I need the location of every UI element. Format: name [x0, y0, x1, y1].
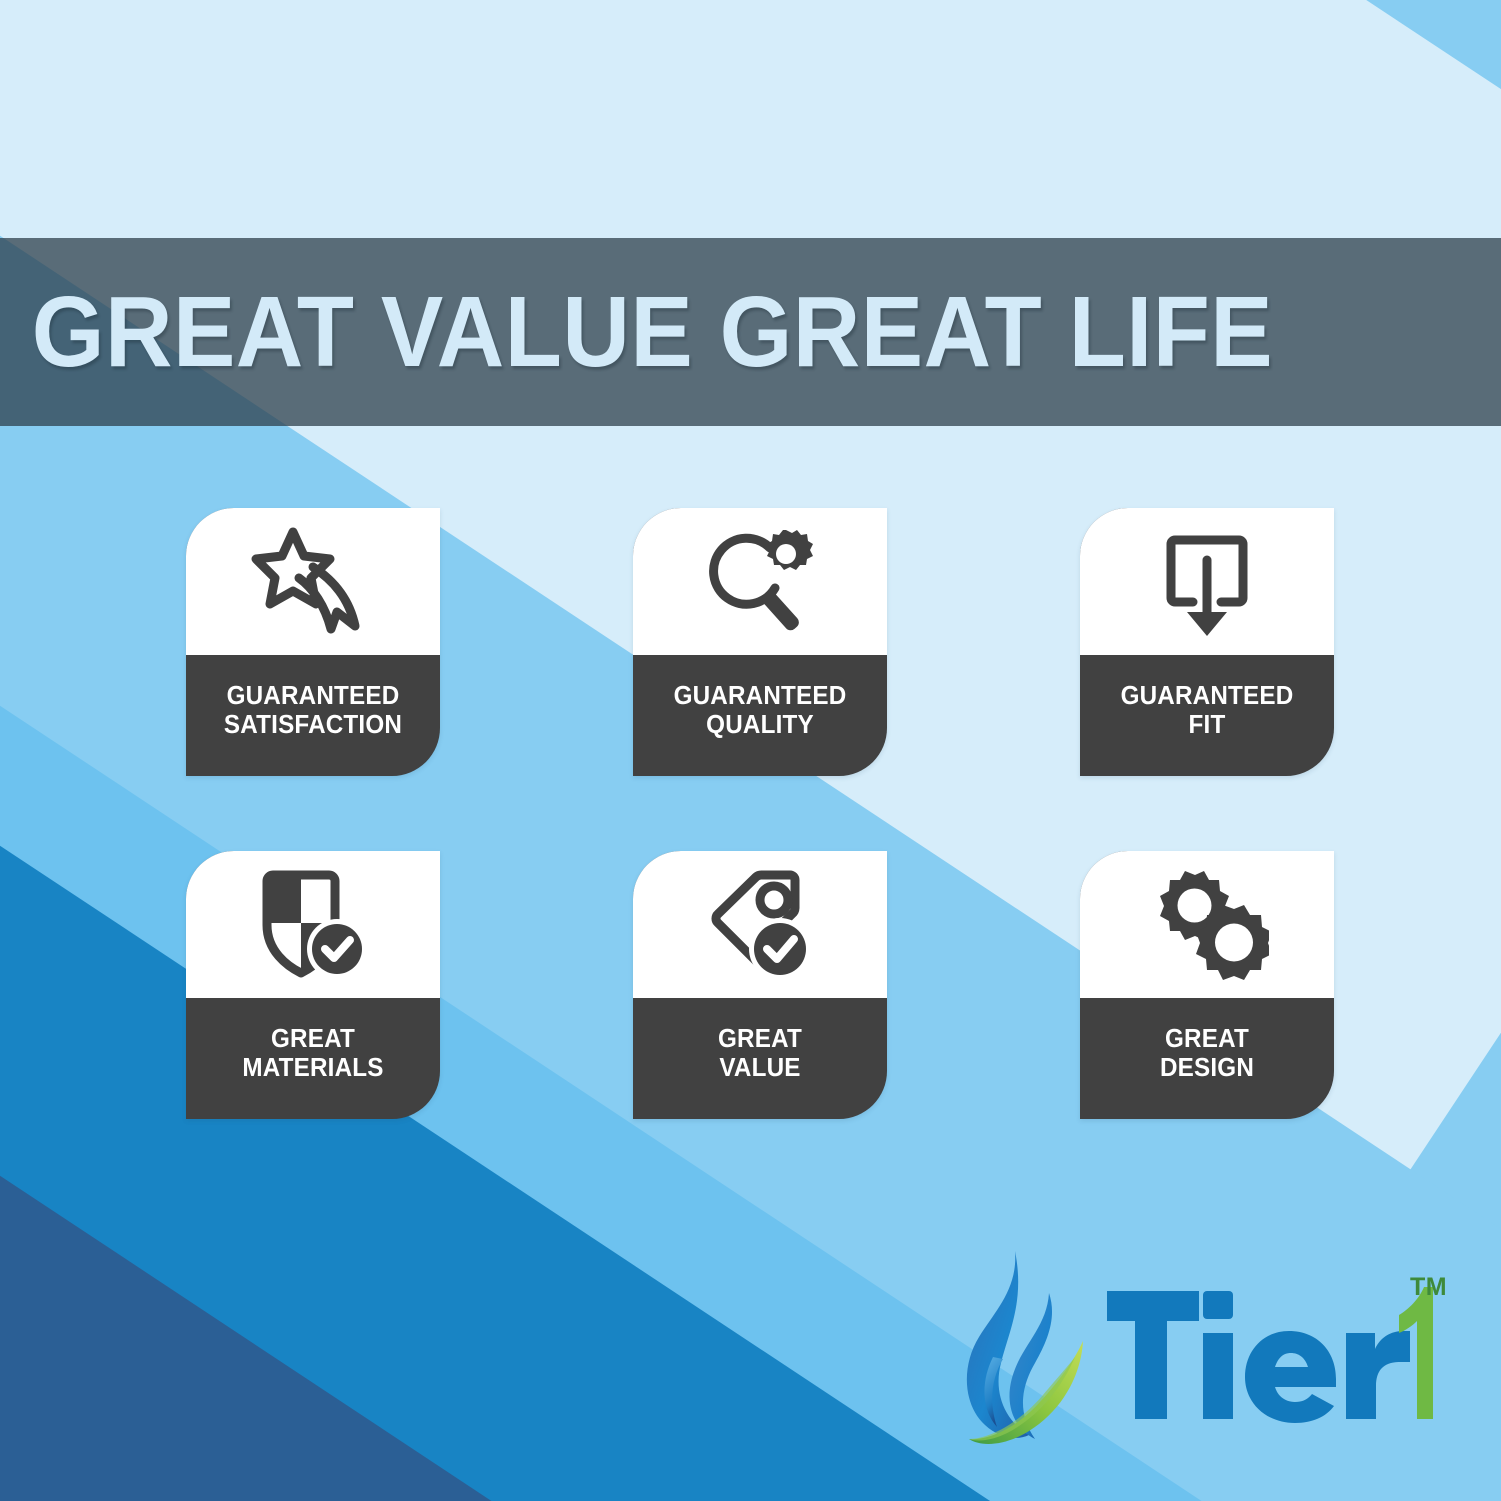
card-label-line2: VALUE [719, 1054, 800, 1083]
insert-down-arrow-icon [1151, 526, 1263, 638]
card-label-line1: GREAT [271, 1025, 355, 1054]
card-label-line2: FIT [1189, 711, 1226, 740]
feature-card-great-value[interactable]: GREAT VALUE [633, 851, 887, 1119]
card-label: GUARANTEED QUALITY [639, 655, 880, 776]
gears-icon [1145, 869, 1269, 981]
card-label-line1: GUARANTEED [227, 682, 400, 711]
poster-root: GREAT VALUE GREAT LIFE GUARANTEED SATISF… [0, 0, 1501, 1501]
card-label: GREAT VALUE [639, 998, 880, 1119]
price-tag-check-icon [698, 869, 822, 981]
feature-card-grid: GUARANTEED SATISFACTION GUARAN [186, 508, 1334, 1119]
card-icon-area [186, 508, 440, 655]
card-label: GREAT MATERIALS [192, 998, 433, 1119]
card-label-line2: QUALITY [706, 711, 814, 740]
card-label: GUARANTEED SATISFACTION [192, 655, 433, 776]
card-label-line2: DESIGN [1160, 1054, 1254, 1083]
shooting-star-icon [251, 526, 375, 638]
card-icon-area [633, 508, 887, 655]
card-label: GUARANTEED FIT [1086, 655, 1327, 776]
card-icon-area [186, 851, 440, 998]
feature-card-great-materials[interactable]: GREAT MATERIALS [186, 851, 440, 1119]
shield-check-icon [253, 869, 373, 981]
feature-card-guaranteed-satisfaction[interactable]: GUARANTEED SATISFACTION [186, 508, 440, 776]
feature-card-great-design[interactable]: GREAT DESIGN [1080, 851, 1334, 1119]
magnifier-gear-icon [698, 526, 822, 638]
trademark-symbol: TM [1410, 1273, 1447, 1302]
tier1-wordmark [1103, 1269, 1433, 1439]
headline-banner: GREAT VALUE GREAT LIFE [0, 238, 1501, 426]
card-label-line1: GUARANTEED [1121, 682, 1294, 711]
feature-card-guaranteed-fit[interactable]: GUARANTEED FIT [1080, 508, 1334, 776]
feature-card-guaranteed-quality[interactable]: GUARANTEED QUALITY [633, 508, 887, 776]
card-icon-area [1080, 851, 1334, 998]
page-title: GREAT VALUE GREAT LIFE [0, 282, 1273, 382]
card-label-line1: GREAT [718, 1025, 802, 1054]
card-label-line1: GUARANTEED [674, 682, 847, 711]
card-label-line1: GREAT [1165, 1025, 1249, 1054]
card-label-line2: MATERIALS [242, 1054, 383, 1083]
card-label-line2: SATISFACTION [224, 711, 402, 740]
brand-logo[interactable]: TM [955, 1245, 1455, 1480]
tier1-droplet-leaf-icon [955, 1245, 1095, 1465]
card-icon-area [633, 851, 887, 998]
card-label: GREAT DESIGN [1086, 998, 1327, 1119]
card-icon-area [1080, 508, 1334, 655]
